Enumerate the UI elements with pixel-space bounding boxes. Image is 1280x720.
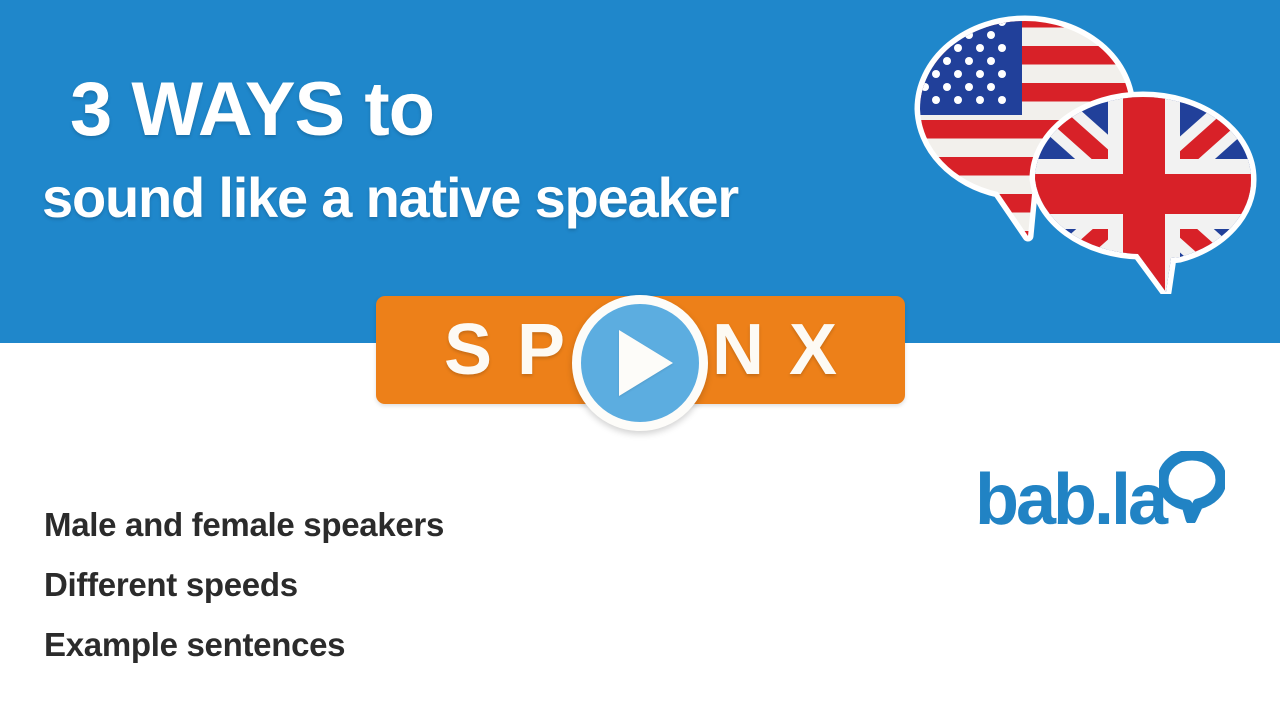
headline: 3 WAYS to xyxy=(70,72,434,148)
thumbnail-canvas: 3 WAYS to sound like a native speaker S … xyxy=(0,0,1280,720)
feature-item-1: Different speeds xyxy=(44,555,744,615)
brand-letter-4: N xyxy=(712,314,764,386)
feature-item-2: Example sentences xyxy=(44,615,744,675)
babla-logo: bab.la xyxy=(975,455,1225,545)
play-triangle-icon xyxy=(619,330,673,396)
feature-item-0: Male and female speakers xyxy=(44,495,744,555)
brand-letter-5: X xyxy=(789,314,837,386)
flag-bubbles-svg xyxy=(880,4,1280,294)
feature-list: Male and female speakers Different speed… xyxy=(44,495,744,675)
babla-logo-text: bab.la xyxy=(975,455,1165,545)
brand-letter-1: P xyxy=(517,314,565,386)
subheadline: sound like a native speaker xyxy=(42,170,738,226)
brand-letter-0: S xyxy=(444,314,492,386)
flag-bubbles-group xyxy=(880,4,1280,294)
play-button[interactable] xyxy=(572,295,708,431)
uk-flag-speech-bubble xyxy=(1030,92,1260,294)
speech-bubble-icon xyxy=(1159,451,1225,523)
